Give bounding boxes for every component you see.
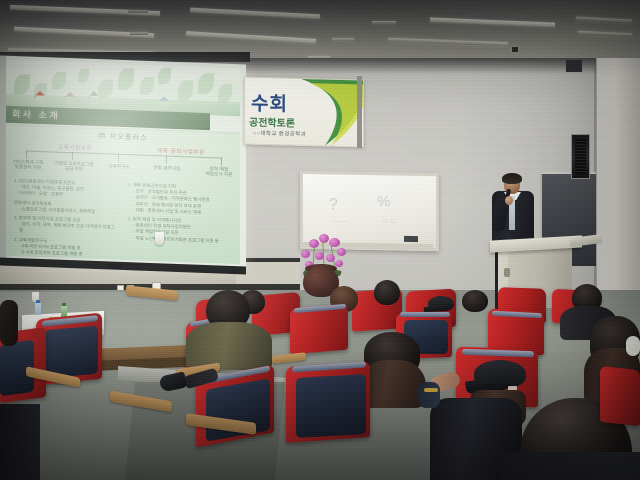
- screen-pull-tab: [108, 264, 122, 269]
- orchid-bloom: [309, 239, 319, 248]
- water-bottle: [35, 300, 41, 315]
- lecture-hall-photo: 회사 소개 ㈜ 차오플러스 교육사업부문 체육·문화사업부문 서비스체계 구축 …: [0, 0, 640, 480]
- orchid-bloom: [326, 254, 335, 262]
- loudspeaker-icon: [571, 134, 590, 179]
- banner-middle-text: 공전학토론: [249, 114, 295, 130]
- banner-right-edge: [357, 76, 362, 148]
- audience-partial: [0, 404, 40, 480]
- slide-right-column: 1. 체육·문화공연사업 기획 - 전국 · 권역별단위 주최·주관 - 공연전…: [128, 182, 236, 245]
- cup-on-armrest: [155, 232, 164, 245]
- wall-banner: 수회 공전학토론 ○○대학교 환경공학과: [244, 77, 364, 148]
- orchid-bloom: [337, 248, 346, 256]
- orchid-bloom: [329, 238, 340, 247]
- ceiling-speaker-icon: [566, 60, 582, 72]
- banner-top-text: 수회: [251, 89, 288, 117]
- whiteboard-mark: ?: [329, 196, 338, 214]
- presenter-hair: [502, 173, 522, 184]
- slide-left-column: 1. GEO문화센터 직접운영 지원소 - 체조, 미술, 피아노, 축구클럽,…: [14, 178, 118, 259]
- podium-latch: [504, 268, 510, 277]
- seat-pad: [44, 326, 98, 379]
- audience-partial: [0, 300, 18, 346]
- seat-top-edge: [400, 312, 450, 317]
- org-box: 거점형 교육프로그램 공급 지원: [52, 160, 96, 172]
- banner-sub-text: ○○대학교 환경공학과: [253, 129, 306, 138]
- slide-body: ㈜ 차오플러스 교육사업부문 체육·문화사업부문 서비스체계 구축 맞춤센터 지…: [6, 126, 240, 265]
- whiteboard-eraser: [404, 236, 418, 242]
- presenter-hand: [505, 196, 513, 205]
- orchid-bloom: [315, 252, 324, 260]
- audience-shoulders: [186, 322, 272, 370]
- org-box: 서비스체계 구축 맞춤센터 지원: [8, 159, 48, 171]
- white-object: [626, 336, 640, 356]
- audience-head: [374, 280, 400, 305]
- audience-sleeve: [418, 382, 440, 408]
- audience-head: [462, 290, 488, 312]
- org-box: 교육연구소: [100, 163, 138, 170]
- corner-pillar: [596, 58, 640, 320]
- whiteboard-mark: %: [377, 193, 390, 210]
- audience-shoulders: [500, 452, 640, 480]
- orchid-bloom: [335, 260, 343, 267]
- seat-pad: [296, 374, 366, 438]
- orchid-bloom: [301, 250, 310, 258]
- orchid-bloom: [319, 234, 329, 243]
- org-box: 방학·체험 체험조사 지원: [198, 166, 240, 178]
- projection-screen: 회사 소개 ㈜ 차오플러스 교육사업부문 체육·문화사업부문 서비스체계 구축 …: [0, 55, 246, 269]
- org-box: 문화·공연사업: [146, 165, 188, 172]
- wrist-bracelet: [424, 388, 438, 392]
- seat: [600, 366, 640, 426]
- slide-subitem: - 영어, 수학, 과학, 체육 방과후 공급 아카데미 프로그램: [14, 221, 118, 237]
